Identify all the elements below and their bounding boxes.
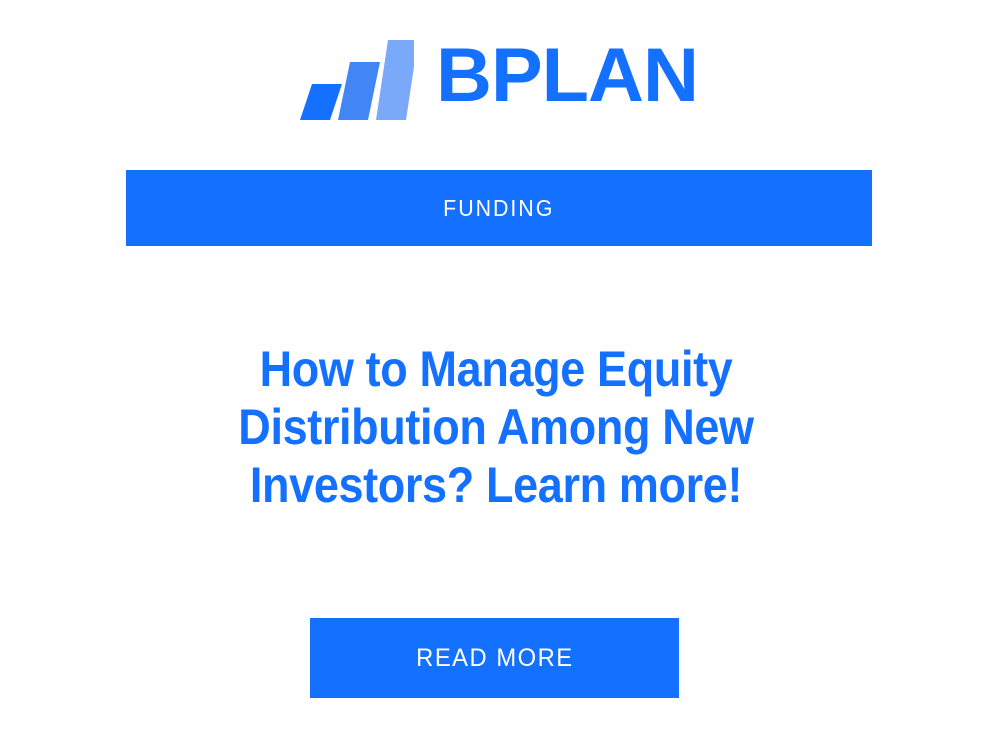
category-banner[interactable]: FUNDING bbox=[126, 170, 872, 246]
promo-card: BPLAN FUNDING How to Manage Equity Distr… bbox=[0, 0, 992, 744]
brand-logo[interactable]: BPLAN bbox=[0, 30, 992, 122]
read-more-button[interactable]: READ MORE bbox=[310, 618, 679, 698]
read-more-label: READ MORE bbox=[416, 646, 574, 671]
headline-line-1: How to Manage Equity bbox=[136, 340, 856, 398]
headline: How to Manage Equity Distribution Among … bbox=[96, 340, 896, 514]
headline-line-3: Investors? Learn more! bbox=[136, 456, 856, 514]
category-label: FUNDING bbox=[443, 197, 554, 220]
headline-line-2: Distribution Among New bbox=[136, 398, 856, 456]
brand-wordmark: BPLAN bbox=[436, 38, 698, 114]
bar-chart-ascending-icon bbox=[300, 32, 414, 120]
